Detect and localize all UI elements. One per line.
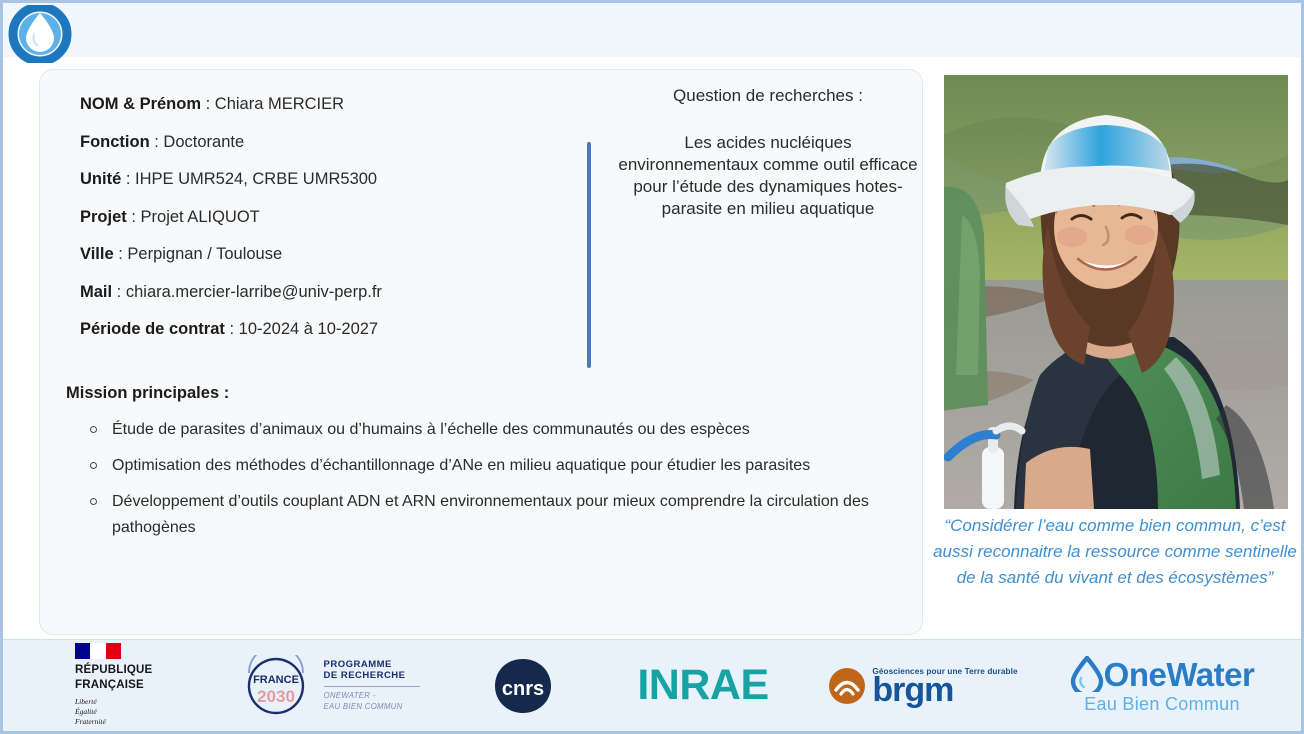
logo-brgm: Géosciences pour une Terre durable brgm (803, 640, 1043, 732)
list-item: Optimisation des méthodes d’échantillonn… (66, 453, 926, 479)
list-item: Étude de parasites d’animaux ou d’humain… (66, 417, 926, 443)
quote-text: “Considérer l’eau comme bien commun, c’e… (931, 513, 1299, 590)
identity-block: NOM & Prénom : Chiara MERCIER Fonction :… (80, 96, 560, 359)
identity-label: Période de contrat (80, 320, 225, 338)
identity-row: Projet : Projet ALIQUOT (80, 209, 560, 226)
identity-sep: : (112, 283, 126, 301)
mission-item-text: Étude de parasites d’animaux ou d’humain… (112, 421, 750, 438)
rf-motto-3: Fraternité (75, 717, 152, 727)
identity-row: NOM & Prénom : Chiara MERCIER (80, 96, 560, 113)
brgm-wordmark: brgm (872, 677, 1017, 705)
circle-bullet-icon (90, 426, 97, 433)
cnrs-wordmark: cnrs (502, 678, 544, 700)
research-question-block: Question de recherches : Les acides nucl… (618, 86, 918, 219)
identity-label: Mail (80, 283, 112, 301)
france-2030-mark-icon: FRANCE 2030 (237, 655, 315, 717)
mission-list: Étude de parasites d’animaux ou d’humain… (66, 417, 926, 541)
identity-row: Unité : IHPE UMR524, CRBE UMR5300 (80, 171, 560, 188)
identity-sep: : (201, 95, 215, 113)
footer-logo-strip: RÉPUBLIQUE FRANÇAISE Liberté Égalité Fra… (3, 639, 1301, 731)
rf-motto-1: Liberté (75, 697, 152, 707)
identity-value: 10-2024 à 10-2027 (239, 320, 378, 338)
onewater-word-water: Water (1166, 658, 1254, 691)
identity-value: Perpignan / Toulouse (127, 245, 282, 263)
french-flag-icon (75, 643, 121, 659)
identity-sep: : (121, 170, 135, 188)
mission-title: Mission principales : (66, 384, 926, 403)
identity-row: Période de contrat : 10-2024 à 10-2027 (80, 321, 560, 338)
identity-value: Chiara MERCIER (215, 95, 344, 113)
brgm-mark-icon (828, 667, 866, 705)
mission-item-text: Développement d’outils couplant ADN et A… (112, 493, 869, 536)
onewater-sub-2: EAU BIEN COMMUN (324, 702, 420, 713)
france-2030-number: 2030 (257, 687, 295, 706)
identity-row-mail: Mail : chiara.mercier-larribe@univ-perp.… (80, 284, 560, 301)
onewater-drop-icon (1070, 656, 1104, 692)
email-value: chiara.mercier-larribe@univ-perp.fr (126, 283, 382, 301)
identity-value: Doctorante (163, 133, 244, 151)
identity-label: Projet (80, 208, 127, 226)
identity-label: NOM & Prénom (80, 95, 201, 113)
programme-line-1: PROGRAMME (324, 659, 420, 671)
list-item: Développement d’outils couplant ADN et A… (66, 489, 926, 541)
rf-line-1: RÉPUBLIQUE (75, 664, 152, 677)
logo-inrae: INRAE (603, 640, 803, 732)
identity-label: Fonction (80, 133, 150, 151)
identity-row: Ville : Perpignan / Toulouse (80, 246, 560, 263)
vertical-divider (587, 142, 591, 368)
divider-rule (324, 686, 420, 687)
water-drop-icon (7, 5, 73, 63)
identity-row: Fonction : Doctorante (80, 134, 560, 151)
logo-france-2030: FRANCE 2030 PROGRAMME DE RECHERCHE ONEWA… (213, 640, 443, 732)
mission-block: Mission principales : Étude de parasites… (66, 384, 926, 551)
identity-sep: : (225, 320, 239, 338)
research-question-text: Les acides nucléiques environnementaux c… (618, 132, 918, 219)
identity-value: Projet ALIQUOT (141, 208, 260, 226)
identity-label: Unité (80, 170, 121, 188)
onewater-word-one: One (1104, 658, 1167, 691)
research-question-title: Question de recherches : (618, 86, 918, 106)
identity-label: Ville (80, 245, 114, 263)
rf-motto-2: Égalité (75, 707, 152, 717)
logo-republique-francaise: RÉPUBLIQUE FRANÇAISE Liberté Égalité Fra… (3, 640, 213, 732)
programme-line-2: DE RECHERCHE (324, 670, 420, 682)
identity-sep: : (127, 208, 141, 226)
identity-sep: : (114, 245, 128, 263)
rf-line-2: FRANÇAISE (75, 679, 152, 692)
onewater-sub-1: ONEWATER - (324, 691, 420, 702)
logo-onewater: One Water Eau Bien Commun (1043, 640, 1301, 732)
logo-cnrs: cnrs (443, 640, 603, 732)
profile-card: NOM & Prénom : Chiara MERCIER Fonction :… (39, 69, 923, 635)
france-2030-word: FRANCE (253, 674, 299, 686)
mission-item-text: Optimisation des méthodes d’échantillonn… (112, 457, 810, 474)
onewater-subtitle: Eau Bien Commun (1084, 694, 1240, 715)
portrait-photo-illustration (944, 75, 1288, 509)
circle-bullet-icon (90, 498, 97, 505)
inrae-wordmark: INRAE (637, 664, 768, 707)
portrait-photo (944, 75, 1288, 509)
top-band (3, 3, 1301, 57)
identity-sep: : (150, 133, 164, 151)
cnrs-mark-icon: cnrs (493, 657, 553, 715)
identity-value: IHPE UMR524, CRBE UMR5300 (135, 170, 377, 188)
circle-bullet-icon (90, 462, 97, 469)
slide-root: NOM & Prénom : Chiara MERCIER Fonction :… (0, 0, 1304, 734)
